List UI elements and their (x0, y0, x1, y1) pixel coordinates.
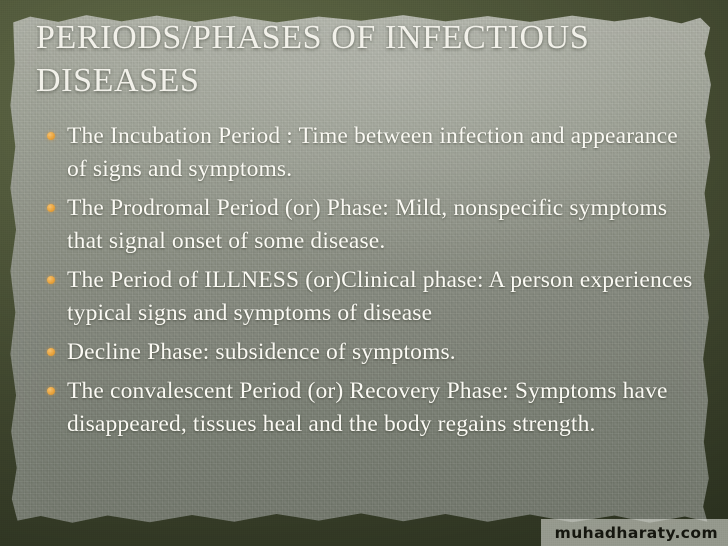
list-item: The Incubation Period : Time between inf… (36, 120, 696, 186)
watermark-label: muhadharaty.com (555, 524, 718, 542)
bullet-dot-icon (47, 204, 55, 212)
bullet-dot-icon (47, 276, 55, 284)
page-title: PERIODS/PHASES OF INFECTIOUS DISEASES (36, 16, 656, 102)
list-item: Decline Phase: subsidence of symptoms. (36, 336, 696, 369)
slide-content: PERIODS/PHASES OF INFECTIOUS DISEASES Th… (0, 0, 728, 546)
list-item-label: Decline Phase: subsidence of symptoms. (67, 339, 456, 365)
list-item-label: The Incubation Period : Time between inf… (67, 123, 678, 182)
bullet-dot-icon (47, 132, 55, 140)
list-item: The Prodromal Period (or) Phase: Mild, n… (36, 192, 696, 258)
list-item: The Period of ILLNESS (or)Clinical phase… (36, 264, 696, 330)
list-item: The convalescent Period (or) Recovery Ph… (36, 375, 696, 441)
bullet-dot-icon (47, 387, 55, 395)
list-item-label: The convalescent Period (or) Recovery Ph… (67, 378, 668, 437)
bullet-list: The Incubation Period : Time between inf… (36, 120, 696, 447)
list-item-label: The Period of ILLNESS (or)Clinical phase… (67, 267, 692, 326)
list-item-label: The Prodromal Period (or) Phase: Mild, n… (67, 195, 667, 254)
slide-canvas: PERIODS/PHASES OF INFECTIOUS DISEASES Th… (0, 0, 728, 546)
bullet-dot-icon (47, 348, 55, 356)
watermark: muhadharaty.com (541, 519, 728, 546)
